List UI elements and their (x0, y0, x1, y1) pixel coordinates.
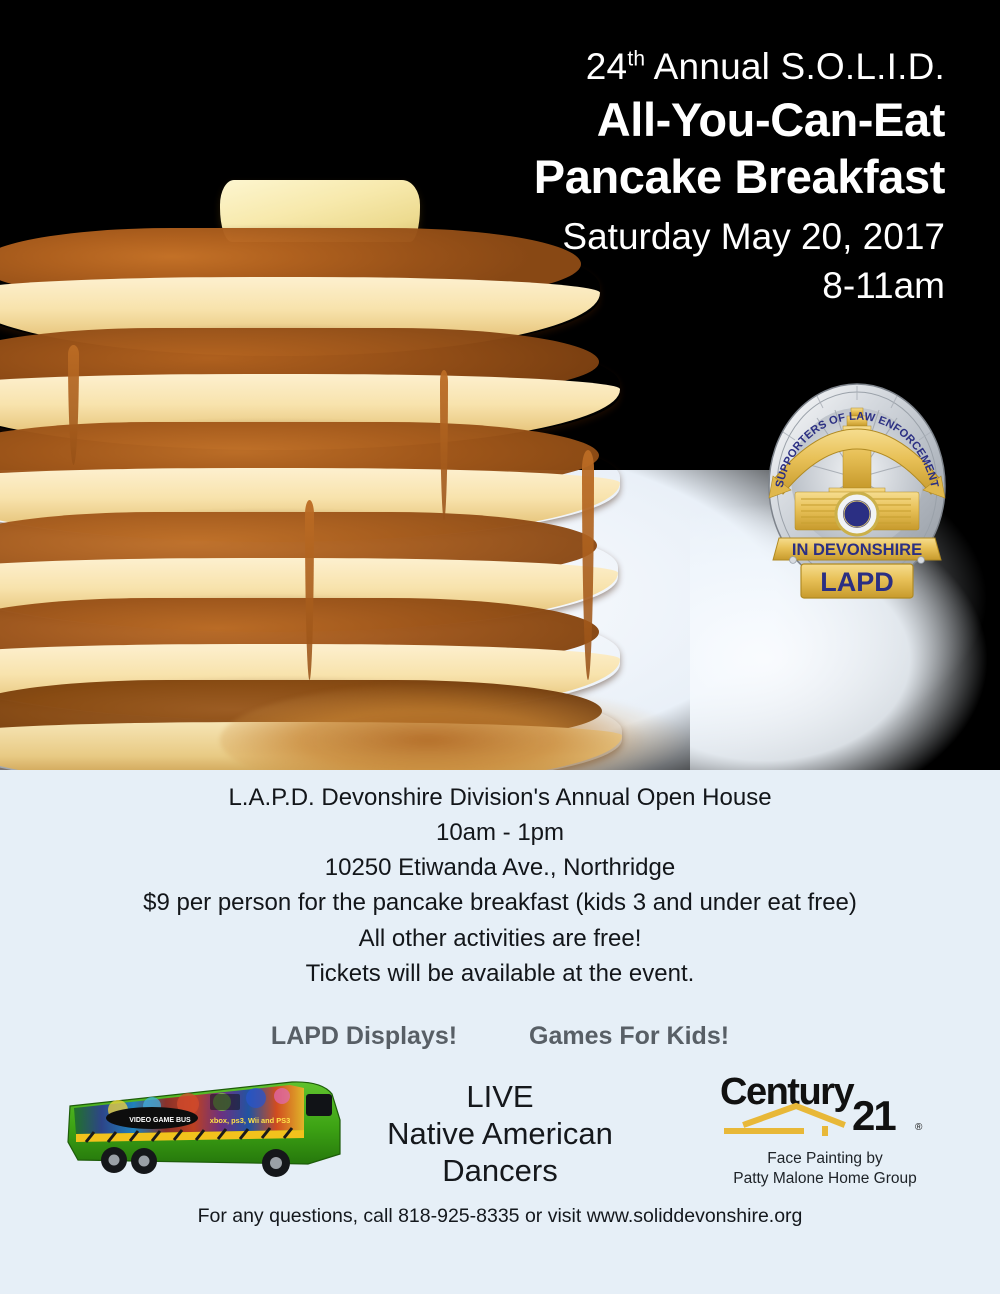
headline-block: 24th Annual S.O.L.I.D. All-You-Can-Eat P… (325, 48, 945, 305)
century21-registered-mark: ® (915, 1122, 923, 1133)
banner-games-for-kids: Games For Kids! (529, 1022, 729, 1051)
headline-title-line2: Pancake Breakfast (325, 153, 945, 202)
live-dancers-block: LIVE Native American Dancers (330, 1078, 670, 1190)
hero-photo: 24th Annual S.O.L.I.D. All-You-Can-Eat P… (0, 0, 1000, 770)
badge-icon: SUPPORTERS OF LAW ENFORCEMENT IN DEVONSH… (757, 374, 957, 619)
detail-line: L.A.P.D. Devonshire Division's Annual Op… (0, 782, 1000, 814)
activity-banners: LAPD Displays! Games For Kids! (0, 1022, 1000, 1051)
bus-wrap-text: VIDEO GAME BUS (129, 1117, 191, 1124)
badge-banner-text: IN DEVONSHIRE (792, 541, 922, 559)
pancake-breakfast-flyer: 24th Annual S.O.L.I.D. All-You-Can-Eat P… (0, 0, 1000, 1294)
century21-sponsor: Century 21 ® Face Painting by Patty Malo… (700, 1062, 950, 1189)
headline-year-number: 24 (586, 46, 628, 87)
century21-logo-icon: Century 21 ® (710, 1062, 940, 1147)
headline-date: Saturday May 20, 2017 (325, 218, 945, 256)
dancers-line-native-american: Native American (330, 1115, 670, 1152)
badge-plate-text: LAPD (820, 567, 894, 597)
video-game-bus-image: VIDEO GAME BUS xbox, ps3, Wii and PS3 (60, 1068, 350, 1188)
headline-time: 8-11am (325, 267, 945, 305)
event-details: L.A.P.D. Devonshire Division's Annual Op… (0, 782, 1000, 993)
headline-title-line1: All-You-Can-Eat (325, 96, 945, 145)
banner-lapd-displays: LAPD Displays! (271, 1022, 457, 1051)
detail-line: 10250 Etiwanda Ave., Northridge (0, 852, 1000, 884)
detail-line: All other activities are free! (0, 923, 1000, 955)
detail-line: 10am - 1pm (0, 817, 1000, 849)
century21-word-21: 21 (852, 1092, 896, 1139)
headline-ordinal: th (627, 48, 645, 71)
dancers-line-live: LIVE (330, 1078, 670, 1115)
dancers-line-dancers: Dancers (330, 1152, 670, 1189)
century21-sub-line2: Patty Malone Home Group (700, 1169, 950, 1189)
lapd-solid-badge: SUPPORTERS OF LAW ENFORCEMENT IN DEVONSH… (757, 374, 957, 619)
contact-footer: For any questions, call 818-925-8335 or … (0, 1205, 1000, 1228)
headline-pre: 24th Annual S.O.L.I.D. (325, 48, 945, 86)
detail-line: $9 per person for the pancake breakfast … (0, 887, 1000, 919)
detail-line: Tickets will be available at the event. (0, 958, 1000, 990)
bus-icon: VIDEO GAME BUS xbox, ps3, Wii and PS3 (60, 1068, 350, 1188)
headline-pre-rest: Annual S.O.L.I.D. (645, 46, 945, 87)
bus-wrap-subtext: xbox, ps3, Wii and PS3 (210, 1116, 290, 1125)
century21-sub-line1: Face Painting by (700, 1149, 950, 1169)
